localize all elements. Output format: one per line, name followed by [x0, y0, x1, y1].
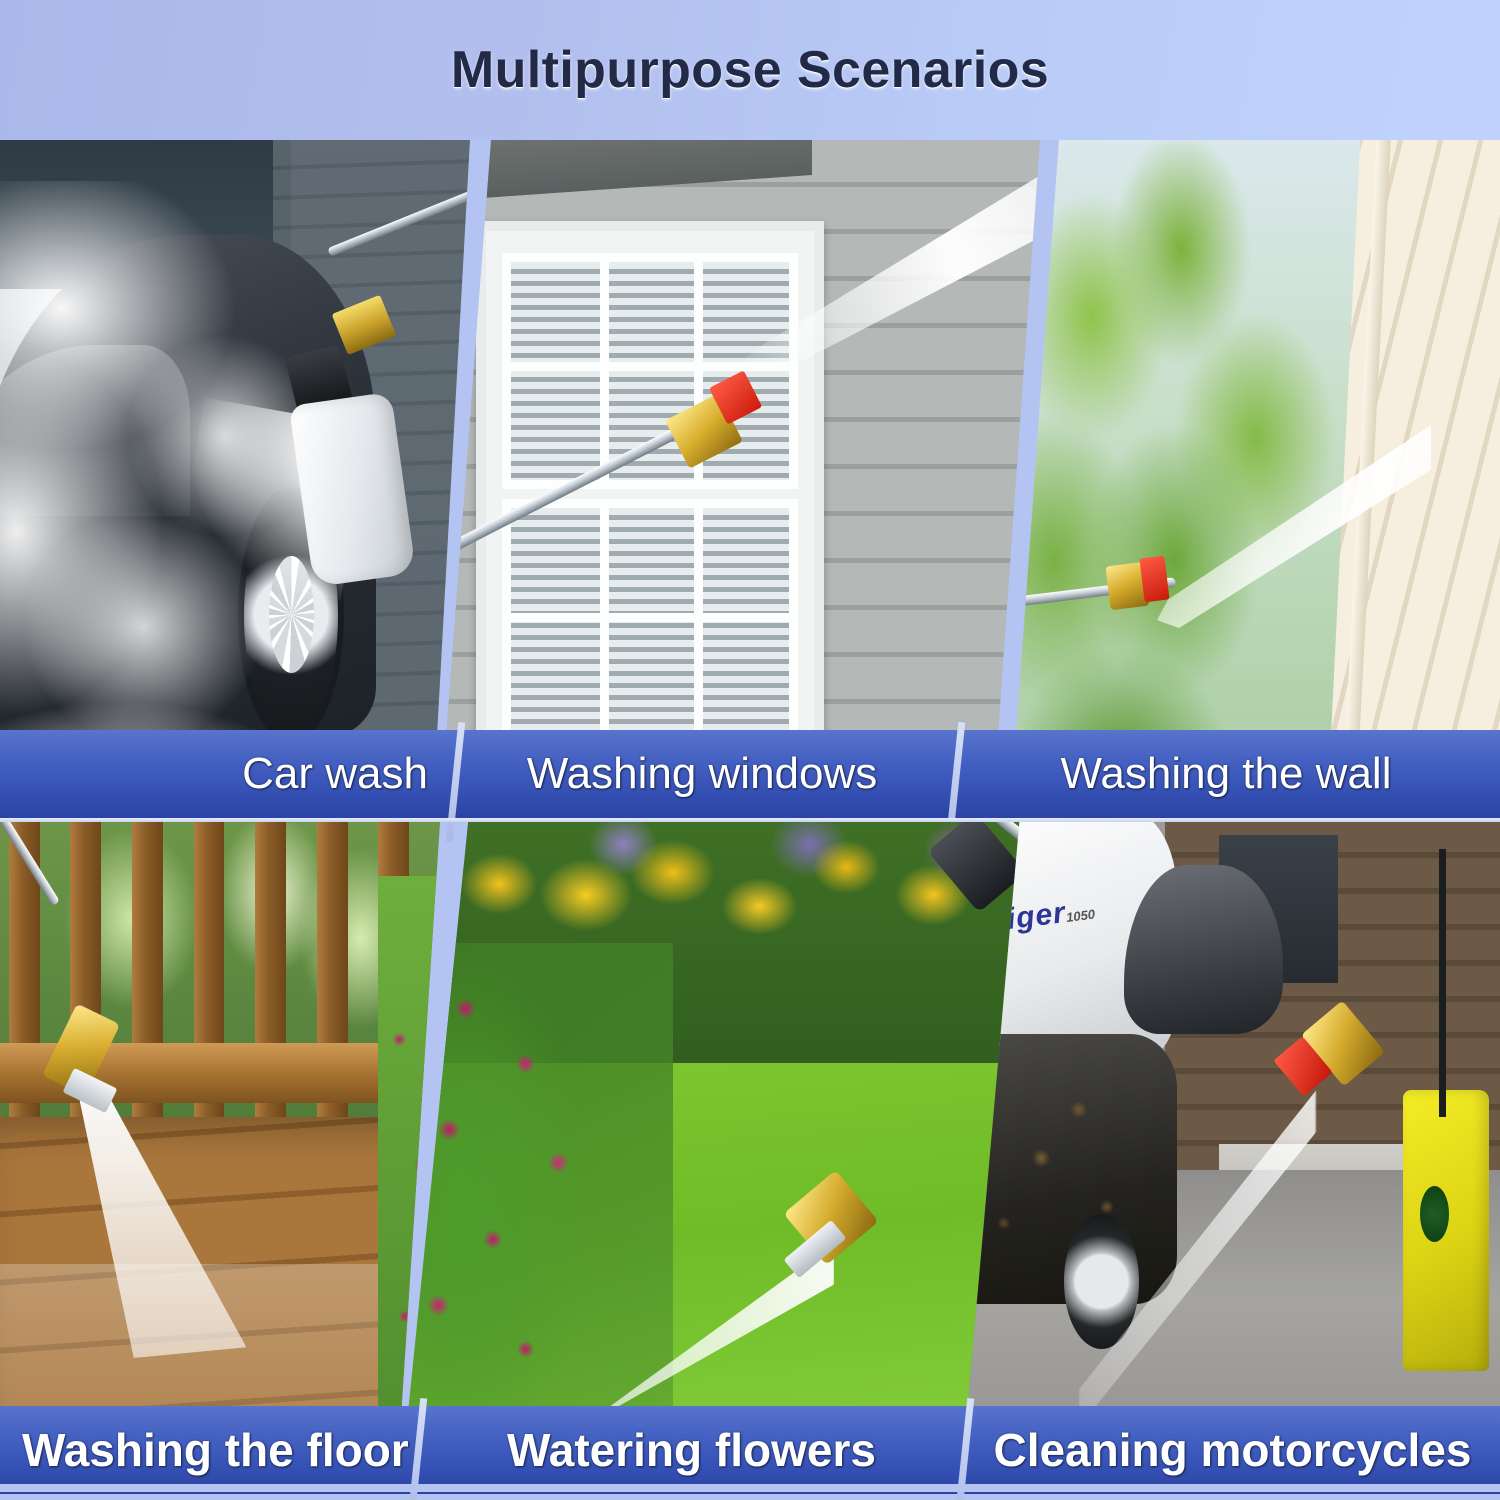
caption-cleaning-motorcycles: Cleaning motorcycles	[993, 1423, 1471, 1477]
caption-bar-car-wash: Car wash	[0, 730, 452, 818]
caption-washing-windows: Washing windows	[527, 749, 878, 799]
photo-washing-windows	[440, 140, 1040, 818]
caption-washing-the-floor: Washing the floor	[22, 1423, 409, 1477]
scenario-row-bottom: Tiger1050 Washing the floor Watering	[0, 822, 1500, 1492]
window-sash-upper	[502, 253, 797, 489]
page-title: Multipurpose Scenarios	[451, 40, 1049, 100]
window-blinds	[511, 508, 788, 737]
window-mullion-vertical	[600, 508, 609, 737]
motorcycle-seat	[1124, 865, 1283, 1034]
bottom-strip	[0, 1484, 1500, 1492]
window-mullion-horizontal	[511, 613, 788, 622]
window-sash-lower	[502, 499, 797, 746]
photo-cleaning-motorcycles: Tiger1050	[960, 822, 1500, 1492]
panel-cleaning-motorcycles[interactable]: Tiger1050	[960, 822, 1500, 1492]
window-frame	[476, 221, 824, 777]
window-mullion-vertical	[694, 508, 703, 737]
panel-washing-the-wall[interactable]	[1010, 140, 1500, 818]
photo-car-wash	[0, 140, 470, 818]
caption-bar-washing-the-floor: Washing the floor	[0, 1406, 418, 1494]
caption-bar-washing-the-wall: Washing the wall	[952, 730, 1500, 818]
pressure-washer-machine	[1403, 1090, 1489, 1371]
panel-car-wash[interactable]	[0, 140, 470, 818]
panel-washing-the-floor[interactable]	[0, 822, 440, 1492]
poster-root: Multipurpose Scenarios	[0, 0, 1500, 1500]
caption-bar-washing-windows: Washing windows	[452, 730, 952, 818]
caption-bar-watering-flowers: Watering flowers	[418, 1406, 965, 1494]
background-trees	[1010, 140, 1382, 818]
panel-washing-windows[interactable]	[440, 140, 1040, 818]
header-banner: Multipurpose Scenarios	[0, 0, 1500, 140]
caption-car-wash: Car wash	[242, 749, 428, 799]
caption-washing-the-wall: Washing the wall	[1061, 749, 1392, 799]
caption-bar-cleaning-motorcycles: Cleaning motorcycles	[965, 1406, 1500, 1494]
scenario-row-top: Car wash Washing windows Washing the wal…	[0, 140, 1500, 818]
pressure-washer-handle	[1439, 849, 1446, 1117]
scenario-grid: Car wash Washing windows Washing the wal…	[0, 140, 1500, 1492]
photo-washing-the-floor	[0, 822, 440, 1492]
caption-watering-flowers: Watering flowers	[507, 1423, 876, 1477]
photo-watering-flowers	[400, 822, 1020, 1492]
photo-washing-the-wall	[1010, 140, 1500, 818]
panel-watering-flowers[interactable]	[400, 822, 1020, 1492]
bike-badge-model: 1050	[1065, 906, 1096, 924]
